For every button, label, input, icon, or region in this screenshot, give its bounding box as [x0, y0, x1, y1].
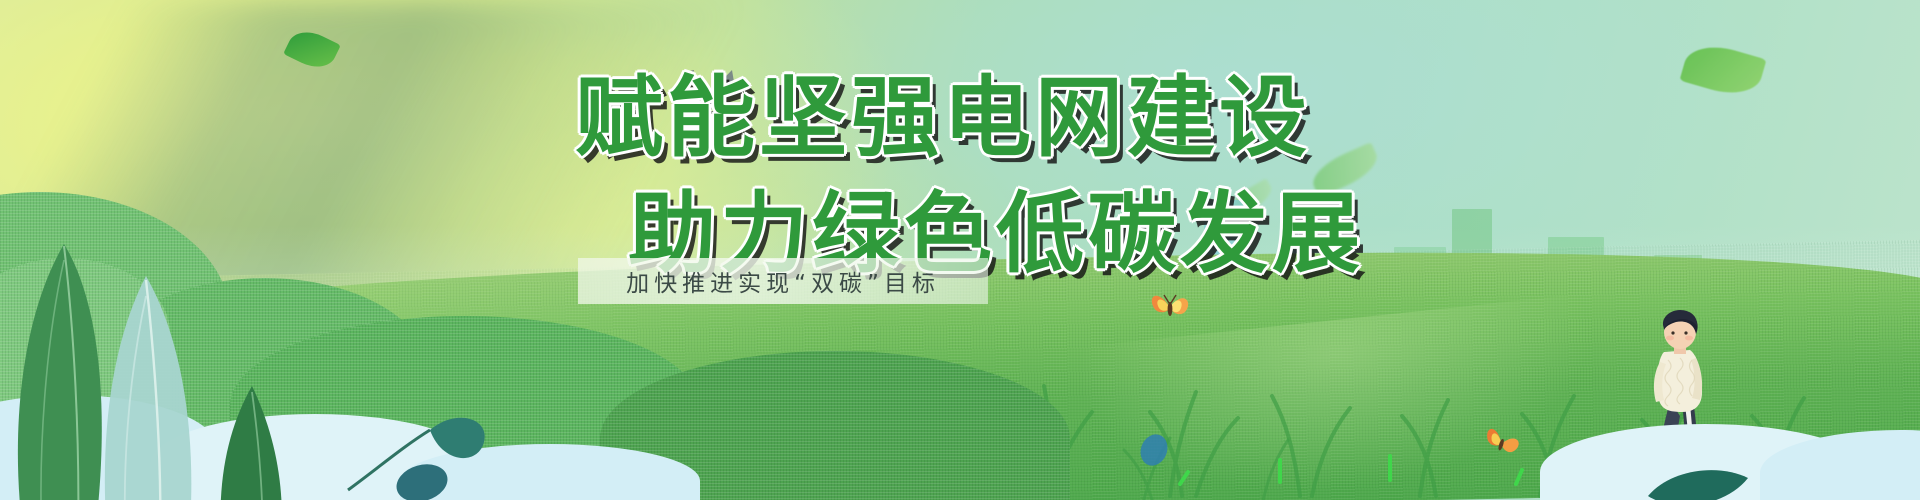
subtitle-bar: 加快推进实现“双碳”目标 — [578, 258, 988, 304]
leaf-accent-icon — [1134, 430, 1174, 470]
tapered-leaf-icon — [0, 220, 370, 500]
eco-power-banner: 赋能坚强电网建设 助力绿色低碳发展 加快推进实现“双碳”目标 — [0, 0, 1920, 500]
leaf-accent-icon — [1640, 452, 1760, 500]
leaf-accent-icon — [392, 458, 452, 500]
butterfly-icon — [1146, 282, 1194, 330]
subtitle-text: 加快推进实现“双碳”目标 — [626, 264, 940, 298]
swallow-bird-icon — [636, 58, 756, 138]
